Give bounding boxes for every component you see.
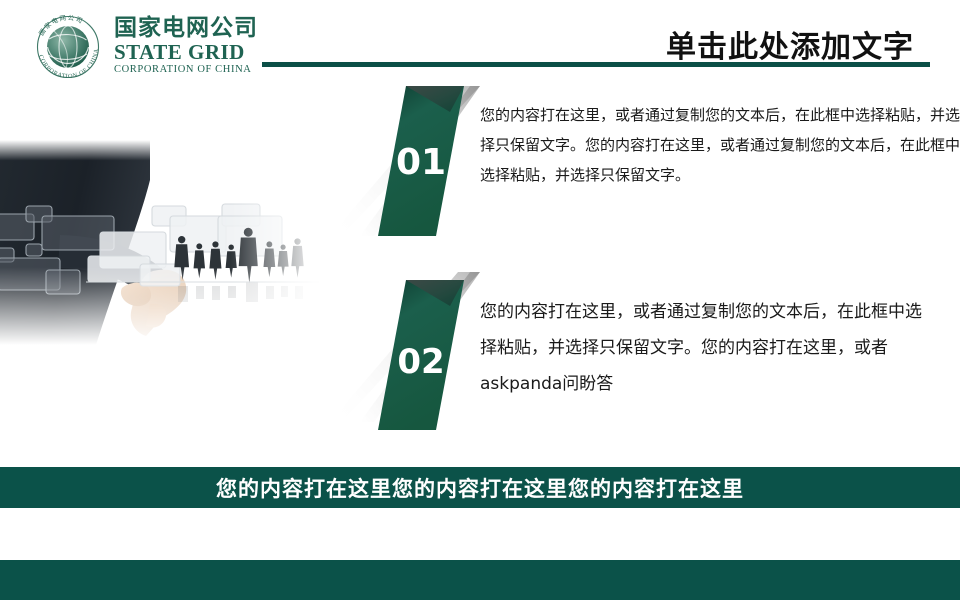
bottom-banner[interactable]: 您的内容打在这里您的内容打在这里您的内容打在这里	[0, 467, 960, 508]
content-block-01[interactable]: 01 您的内容打在这里，或者通过复制您的文本后，在此框中选择粘贴，并选择只保留文…	[330, 86, 960, 246]
page-title[interactable]: 单击此处添加文字	[666, 22, 914, 66]
state-grid-globe-icon: CORPORATION OF CHINA 国家电网公司	[30, 8, 106, 84]
step-badge-01[interactable]: 01	[378, 86, 464, 236]
slide-header: CORPORATION OF CHINA 国家电网公司 国家电网公司 STATE…	[0, 0, 960, 90]
hero-photo	[0, 140, 320, 345]
footer-bar	[0, 560, 960, 600]
step-number-01: 01	[378, 142, 464, 183]
block-02-text[interactable]: 您的内容打在这里，或者通过复制您的文本后，在此框中选择粘贴，并选择只保留文字。您…	[480, 294, 930, 402]
state-grid-logo[interactable]: CORPORATION OF CHINA 国家电网公司 国家电网公司 STATE…	[30, 8, 258, 84]
content-block-02[interactable]: 02 您的内容打在这里，或者通过复制您的文本后，在此框中选择粘贴，并选择只保留文…	[330, 272, 960, 447]
step-number-02: 02	[378, 342, 464, 382]
logo-subtitle: CORPORATION OF CHINA	[114, 65, 258, 76]
bottom-banner-text: 您的内容打在这里您的内容打在这里您的内容打在这里	[216, 473, 744, 503]
logo-name-cn: 国家电网公司	[114, 17, 258, 40]
slide-canvas: CORPORATION OF CHINA 国家电网公司 国家电网公司 STATE…	[0, 0, 960, 600]
header-divider	[262, 62, 930, 67]
logo-name-en: STATE GRID	[114, 42, 258, 63]
logo-wordmark: 国家电网公司 STATE GRID CORPORATION OF CHINA	[114, 17, 258, 76]
block-01-text[interactable]: 您的内容打在这里，或者通过复制您的文本后，在此框中选择粘贴，并选择只保留文字。您…	[480, 100, 960, 190]
step-badge-02[interactable]: 02	[378, 280, 464, 430]
